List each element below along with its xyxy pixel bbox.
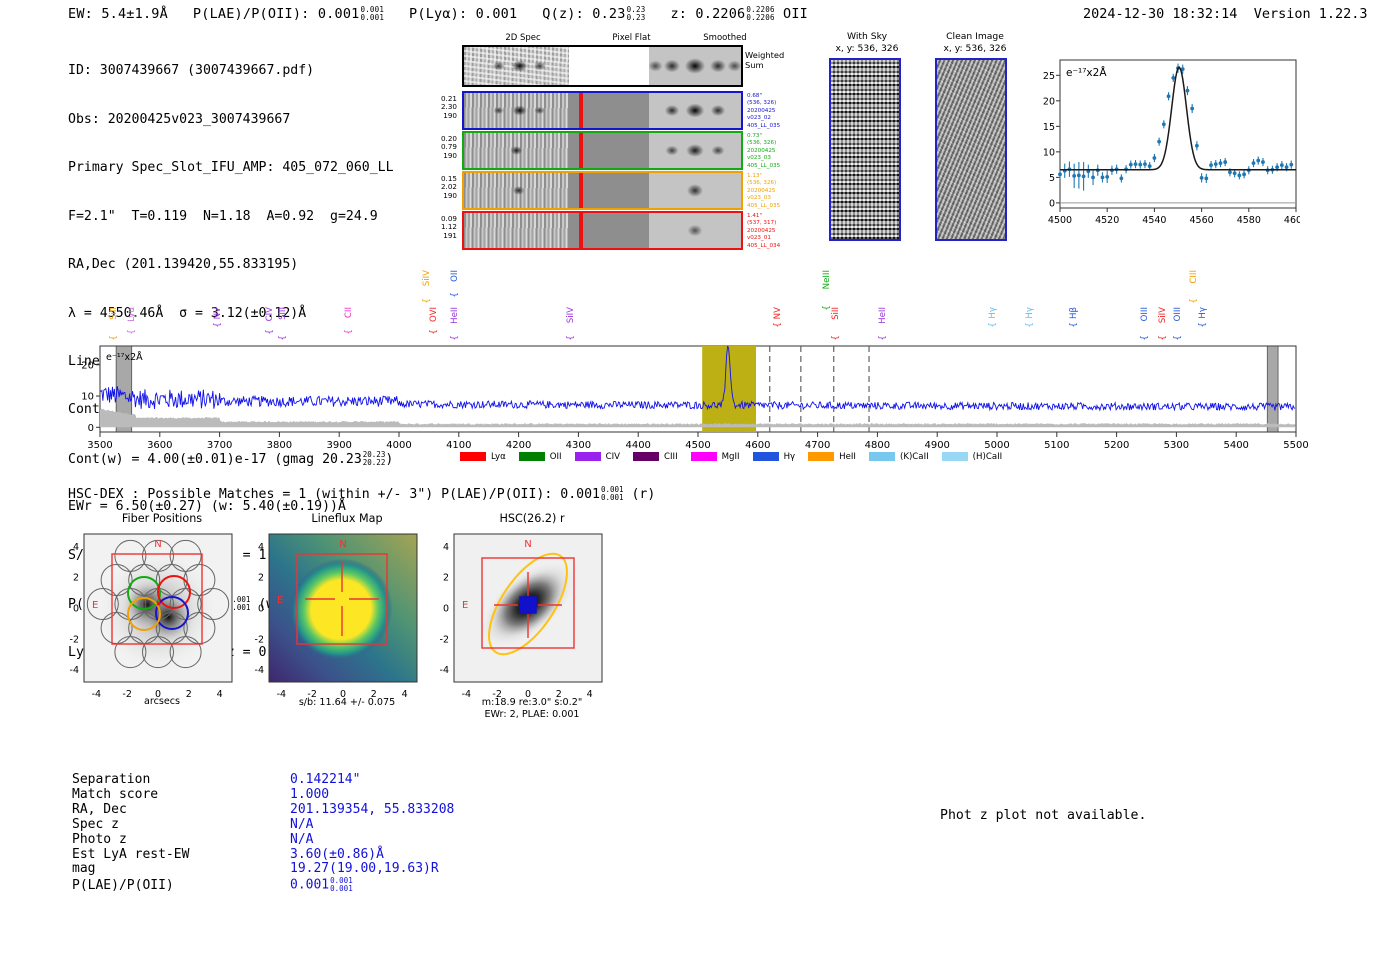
info-seeing: F=2.1" T=0.119 N=1.18 A=0.92 g=24.9 (68, 209, 394, 225)
spec2d-fiber-row (462, 131, 743, 170)
hsc-blue-marker (520, 597, 536, 613)
svg-text:5: 5 (1049, 173, 1055, 184)
svg-text:5300: 5300 (1164, 440, 1189, 451)
fiber-positions-xlabel: arcsecs (62, 696, 262, 708)
legend-item: OII (519, 452, 562, 462)
spectral-line-bracket: { (1198, 322, 1208, 328)
spectral-line-label: HeII (878, 307, 888, 324)
info-id: ID: 3007439667 (3007439667.pdf) (68, 63, 394, 79)
spec2d-row-right-labels: 1.13"(536, 326) 20200425v023_03 405_LL_0… (747, 173, 805, 210)
legend-label: (H)CaII (973, 452, 1003, 462)
lineflux-map-title: Lineflux Map (247, 512, 447, 525)
spectral-line-bracket: { (278, 335, 288, 341)
fiber-2dspec-image (464, 93, 569, 128)
svg-text:4580: 4580 (1237, 215, 1261, 226)
svg-text:5200: 5200 (1104, 440, 1129, 451)
spectral-line-label: NV (213, 307, 223, 319)
legend-item: (H)CaII (942, 452, 1003, 462)
svg-text:N: N (339, 539, 346, 550)
match-plae-bounds: 0.0010.001 (330, 877, 353, 893)
qz-bounds: 0.230.23 (627, 6, 646, 22)
fiber-pixelflat-image (569, 133, 649, 168)
legend-label: OII (550, 452, 562, 462)
spec2d-col-header-pixelflat: Pixel Flat (584, 33, 679, 43)
legend-swatch (691, 452, 717, 461)
legend-label: Hγ (784, 452, 796, 462)
table-row: mag19.27(19.00,19.63)R (72, 862, 454, 877)
full-spectrum-plot: SiII{Lyα{NV{CIV{SiII{CII{OVI{HeII{SiIV{N… (60, 278, 1340, 463)
spectral-line-label: SiIV (1158, 307, 1168, 323)
svg-text:10: 10 (1043, 147, 1055, 158)
svg-text:4: 4 (73, 542, 79, 553)
spectral-line-bracket: { (213, 322, 223, 328)
svg-text:3600: 3600 (147, 440, 172, 451)
table-row: Photo zN/A (72, 833, 454, 848)
spectral-line-label: OIII (1173, 307, 1183, 321)
legend-swatch (633, 452, 659, 461)
spec2d-row-left-labels: 0.091.12191 (417, 215, 457, 240)
spec2d-pixelflat-blank (569, 47, 649, 85)
header-timestamp-version: 2024-12-30 18:32:14 Version 1.22.3 (1083, 6, 1368, 22)
svg-text:3700: 3700 (207, 440, 232, 451)
spectral-line-bracket: { (450, 335, 460, 341)
fiber-2dspec-image (464, 213, 569, 248)
fiber-smoothed-image (649, 93, 741, 128)
spectral-line-label: NV (773, 307, 783, 319)
spectral-line-label: OIII (1140, 307, 1150, 321)
svg-text:4: 4 (443, 542, 449, 553)
svg-text:5500: 5500 (1283, 440, 1308, 451)
svg-text:4000: 4000 (386, 440, 411, 451)
spectral-line-bracket: { (450, 292, 460, 298)
svg-text:-4: -4 (440, 665, 449, 676)
spectral-line-label: Hγ (1198, 307, 1208, 319)
z-label: z: (670, 6, 687, 22)
legend-label: Lyα (491, 452, 506, 462)
svg-text:N: N (524, 539, 531, 550)
svg-text:2: 2 (73, 573, 79, 584)
spectral-line-label: CIV (265, 307, 275, 321)
table-row: Est LyA rest-EW3.60(±0.86)Å (72, 848, 454, 863)
spectral-line-bracket: { (429, 329, 439, 335)
hsc-image-caption: m:18.9 re:3.0" s:0.2" EWr: 2, PLAE: 0.00… (432, 697, 632, 721)
hsc-image-panel[interactable]: -4-2024 -4-2024 N E (432, 530, 632, 710)
info-primary-spec: Primary Spec_Slot_IFU_AMP: 405_072_060_L… (68, 160, 394, 176)
svg-text:-2: -2 (255, 634, 264, 645)
legend-item: (K)CaII (869, 452, 929, 462)
legend-label: MgII (722, 452, 740, 462)
qz-label: Q(z): (542, 6, 584, 22)
spec2d-row-right-labels: 1.41"(537, 317) 20200425v023_01 405_LL_0… (747, 213, 805, 250)
spec2d-row-right-labels: 0.73"(536, 326) 20200425v023_03 405_LL_0… (747, 133, 805, 170)
svg-text:E: E (462, 600, 468, 611)
with-sky-image (829, 58, 901, 241)
legend-item: CIII (633, 452, 678, 462)
svg-text:-2: -2 (440, 634, 449, 645)
qz-value: 0.23 (592, 6, 625, 22)
z-bounds: 0.22060.2206 (746, 6, 774, 22)
spectral-line-bracket: { (127, 329, 137, 335)
table-row: Spec zN/A (72, 818, 454, 833)
z-value: 0.2206 (695, 6, 745, 22)
ew-value: 5.4±1.9Å (101, 6, 168, 22)
hsc-dex-plae-bounds: 0.0010.001 (601, 486, 624, 502)
spectral-line-bracket: { (822, 305, 832, 311)
line-profile-plot: 0510152025 450045204540456045804600 e⁻¹⁷… (1032, 56, 1300, 242)
spectral-line-label: HeII (450, 307, 460, 324)
spectral-line-bracket: { (109, 335, 119, 341)
svg-text:-4: -4 (70, 665, 79, 676)
spectral-line-bracket: { (1025, 322, 1035, 328)
legend-swatch (519, 452, 545, 461)
plya-value: 0.001 (476, 6, 518, 22)
legend-swatch (753, 452, 779, 461)
spectral-line-bracket: { (1173, 335, 1183, 341)
z-species: OII (783, 6, 808, 22)
photz-note: Phot z plot not available. (940, 808, 1146, 823)
spectral-line-label: SiIV (422, 270, 432, 286)
spec2d-2dspec-image (464, 47, 569, 85)
full-spectrum-svg: 01020 3500360037003800390040004100420043… (60, 278, 1340, 463)
spectral-line-bracket: { (1140, 335, 1150, 341)
lineflux-map-panel[interactable]: -4-2024 -4-2024 N E (247, 530, 447, 710)
lineflux-map-caption: s/b: 11.64 +/- 0.075 (247, 697, 447, 709)
svg-text:0: 0 (1049, 198, 1055, 209)
line-profile-units-annotation: e⁻¹⁷x2Å (1066, 66, 1107, 79)
svg-text:5400: 5400 (1223, 440, 1248, 451)
svg-text:4540: 4540 (1142, 215, 1166, 226)
clean-image-image (935, 58, 1007, 241)
spec2d-fiber-row (462, 91, 743, 130)
spectral-line-label: OVI (429, 307, 439, 322)
table-row: Separation0.142214" (72, 773, 454, 788)
fiber-smoothed-image (649, 173, 741, 208)
match-table: Separation0.142214" Match score1.000 RA,… (72, 773, 454, 894)
header-summary-line: EW: 5.4±1.9Å P(LAE)/P(OII): 0.0010.0010.… (68, 6, 808, 22)
spectral-line-label: NeIII (822, 270, 832, 289)
spec2d-row-left-labels: 0.212.30190 (417, 95, 457, 120)
spec2d-col-header-2dspec: 2D Spec (462, 33, 584, 43)
legend-item: Hγ (753, 452, 796, 462)
svg-text:10: 10 (81, 392, 94, 403)
info-obs: Obs: 20200425v023_3007439667 (68, 112, 394, 128)
legend-item: CIV (575, 452, 620, 462)
spec2d-row-left-labels: 0.152.02190 (417, 175, 457, 200)
spectral-line-label: SiII (831, 307, 841, 320)
spectral-line-bracket: { (878, 335, 888, 341)
spectral-line-label: SiII (278, 307, 288, 320)
spectrum-legend: LyαOIICIVCIIIMgIIHγHeII(K)CaII(H)CaII (460, 446, 1015, 465)
full-spectrum-units-annotation: e⁻¹⁷x2Å (106, 351, 143, 363)
spec2d-fiber-row (462, 211, 743, 250)
svg-text:4500: 4500 (1048, 215, 1072, 226)
fiber-2dspec-image (464, 173, 569, 208)
legend-label: (K)CaII (900, 452, 929, 462)
spectral-line-label: SiII (109, 307, 119, 320)
fiber-positions-title: Fiber Positions (62, 512, 262, 525)
table-row: Match score1.000 (72, 788, 454, 803)
spec2d-smoothed-image (649, 47, 741, 85)
svg-text:-2: -2 (70, 634, 79, 645)
svg-text:4: 4 (258, 542, 264, 553)
spec2d-fiber-row (462, 171, 743, 210)
svg-text:4520: 4520 (1095, 215, 1119, 226)
svg-text:2: 2 (258, 573, 264, 584)
svg-text:E: E (92, 600, 98, 611)
spectral-line-bracket: { (1189, 298, 1199, 304)
spectral-line-label: SiIV (566, 307, 576, 323)
svg-text:3800: 3800 (267, 440, 292, 451)
spectral-line-label: OII (450, 270, 460, 282)
table-row: P(LAE)/P(OII)0.0010.0010.001 (72, 877, 454, 893)
legend-label: CIV (606, 452, 620, 462)
svg-text:15: 15 (1043, 122, 1055, 133)
plya-label: P(Lyα): (409, 6, 467, 22)
svg-text:4560: 4560 (1190, 215, 1214, 226)
fiber-pixelflat-image (569, 93, 649, 128)
svg-text:20: 20 (1043, 96, 1055, 107)
version: Version 1.22.3 (1254, 6, 1368, 22)
spec2d-panel-group: 2D Spec Pixel Flat Smoothed Weighted Sum… (462, 33, 810, 245)
svg-text:20: 20 (81, 360, 94, 371)
legend-item: HeII (808, 452, 856, 462)
svg-text:0: 0 (443, 604, 449, 615)
spectral-line-bracket: { (344, 329, 354, 335)
legend-label: CIII (664, 452, 678, 462)
fiber-pixelflat-image (569, 173, 649, 208)
svg-text:25: 25 (1043, 71, 1055, 82)
spectral-line-label: Hγ (988, 307, 998, 319)
hsc-image-title: HSC(26.2) r (432, 512, 632, 525)
legend-item: MgII (691, 452, 740, 462)
svg-text:5100: 5100 (1044, 440, 1069, 451)
spectral-line-label: CIII (1189, 270, 1199, 284)
legend-label: HeII (839, 452, 856, 462)
legend-swatch (575, 452, 601, 461)
legend-swatch (869, 452, 895, 461)
legend-swatch (942, 452, 968, 461)
legend-swatch (808, 452, 834, 461)
weighted-sum-label: Weighted Sum (745, 51, 805, 70)
fiber-positions-panel[interactable]: -4-2024 -4-2024 N E (62, 530, 262, 710)
plae-label: P(LAE)/P(OII): (193, 6, 310, 22)
fiber-pixelflat-image (569, 213, 649, 248)
legend-swatch (460, 452, 486, 461)
spectral-line-bracket: { (265, 329, 275, 335)
hsc-dex-header-text: HSC-DEX : Possible Matches = 1 (within +… (68, 487, 600, 502)
clean-image-caption: Clean Imagex, y: 536, 326 (925, 31, 1025, 54)
spectral-line-label: Lyα (127, 307, 137, 322)
spec2d-row-left-labels: 0.200.79190 (417, 135, 457, 160)
spectral-line-label: Hβ (1069, 307, 1079, 319)
svg-text:3500: 3500 (87, 440, 112, 451)
spec2d-row-right-labels: 0.68"(536, 326) 20200425v023_02 405_LL_0… (747, 93, 805, 130)
spectral-line-bracket: { (422, 298, 432, 304)
svg-text:2: 2 (443, 573, 449, 584)
legend-item: Lyα (460, 452, 506, 462)
spectral-line-bracket: { (988, 322, 998, 328)
ew-label: EW: (68, 6, 93, 22)
spec2d-weighted-sum-strip (462, 45, 743, 87)
spectral-line-bracket: { (566, 335, 576, 341)
svg-text:3900: 3900 (326, 440, 351, 451)
spec2d-col-header-smoothed: Smoothed (679, 33, 771, 43)
svg-text:E: E (277, 595, 283, 606)
svg-text:N: N (154, 539, 161, 550)
spectral-line-label: CII (344, 307, 354, 318)
fiber-smoothed-image (649, 213, 741, 248)
spectral-line-label: Hγ (1025, 307, 1035, 319)
fiber-2dspec-image (464, 133, 569, 168)
timestamp: 2024-12-30 18:32:14 (1083, 6, 1237, 22)
line-profile-svg: 0510152025 450045204540456045804600 e⁻¹⁷… (1032, 56, 1300, 242)
svg-text:-4: -4 (255, 665, 264, 676)
svg-text:4600: 4600 (1284, 215, 1300, 226)
svg-text:0: 0 (73, 604, 79, 615)
spectral-line-bracket: { (773, 322, 783, 328)
spectral-line-bracket: { (831, 335, 841, 341)
plae-value: 0.001 (318, 6, 360, 22)
plae-bounds: 0.0010.001 (360, 6, 384, 22)
info-radec: RA,Dec (201.139420,55.833195) (68, 257, 394, 273)
spectral-line-bracket: { (1069, 322, 1079, 328)
svg-text:0: 0 (258, 604, 264, 615)
fiber-smoothed-image (649, 133, 741, 168)
table-row: RA, Dec201.139354, 55.833208 (72, 803, 454, 818)
hsc-dex-header: HSC-DEX : Possible Matches = 1 (within +… (68, 486, 655, 502)
spectral-line-bracket: { (1158, 335, 1168, 341)
with-sky-caption: With Skyx, y: 536, 326 (822, 31, 912, 54)
svg-text:0: 0 (88, 423, 94, 434)
